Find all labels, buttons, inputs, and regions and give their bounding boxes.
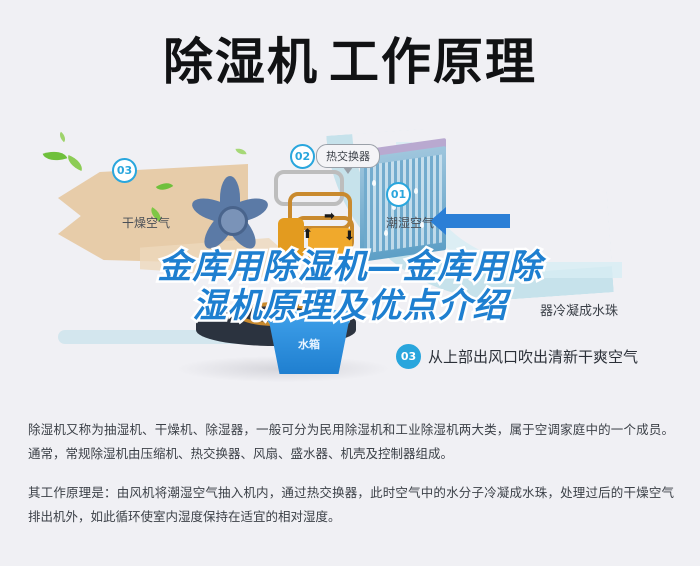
step-badge-03: 03 [112,158,137,183]
intake-arrow-icon [446,214,510,228]
water-droplet-icon [414,188,418,194]
leaf-icon [43,147,68,165]
step-badge-03-bottom: 03 [396,344,421,369]
step3-text: 从上部出风口吹出清新干爽空气 [428,346,638,367]
flow-arrow-up-icon: ⬆ [302,228,313,241]
leaf-icon [235,147,246,156]
flow-arrow-right-icon: ➡ [324,210,335,223]
leaf-icon [57,132,68,142]
flow-arrow-down-icon: ⬇ [344,230,355,243]
step-caption-humid-air: 潮湿空气 [386,214,434,231]
title-text: 除湿机工作原理 [163,37,537,87]
article-body: 除湿机又称为抽湿机、干燥机、除湿器，一般可分为民用除湿机和工业除湿机两大类，属于… [28,418,674,530]
article-paragraph-2: 其工作原理是：由风机将潮湿空气抽入机内，通过热交换器，此时空气中的水分子冷凝成水… [28,481,674,530]
fan-icon [182,170,278,266]
step-caption-heat-exchanger: 热交换器 [316,144,380,168]
leaf-icon [65,155,85,171]
page-title: 除湿机工作原理 [0,26,700,98]
step3-row: 03 从上部出风口吹出清新干爽空气 [396,344,638,369]
compressor-coils: ➡ ⬆ ⬇ [268,166,370,266]
water-droplet-icon [372,180,376,186]
infographic-page: 除湿机工作原理 [0,0,700,566]
fan-hub [218,206,248,236]
title-part1: 除湿机 [163,33,319,91]
step-badge-02: 02 [290,144,315,169]
article-paragraph-1: 除湿机又称为抽湿机、干燥机、除湿器，一般可分为民用除湿机和工业除湿机两大类，属于… [28,418,674,467]
step-caption-dry-air: 干燥空气 [122,214,170,231]
step-badge-01: 01 [386,182,411,207]
condensation-caption: 器冷凝成水珠 [540,300,618,319]
title-part2: 工作原理 [329,33,537,91]
compressor-body [278,218,304,258]
water-tank-label: 水箱 [268,336,350,352]
